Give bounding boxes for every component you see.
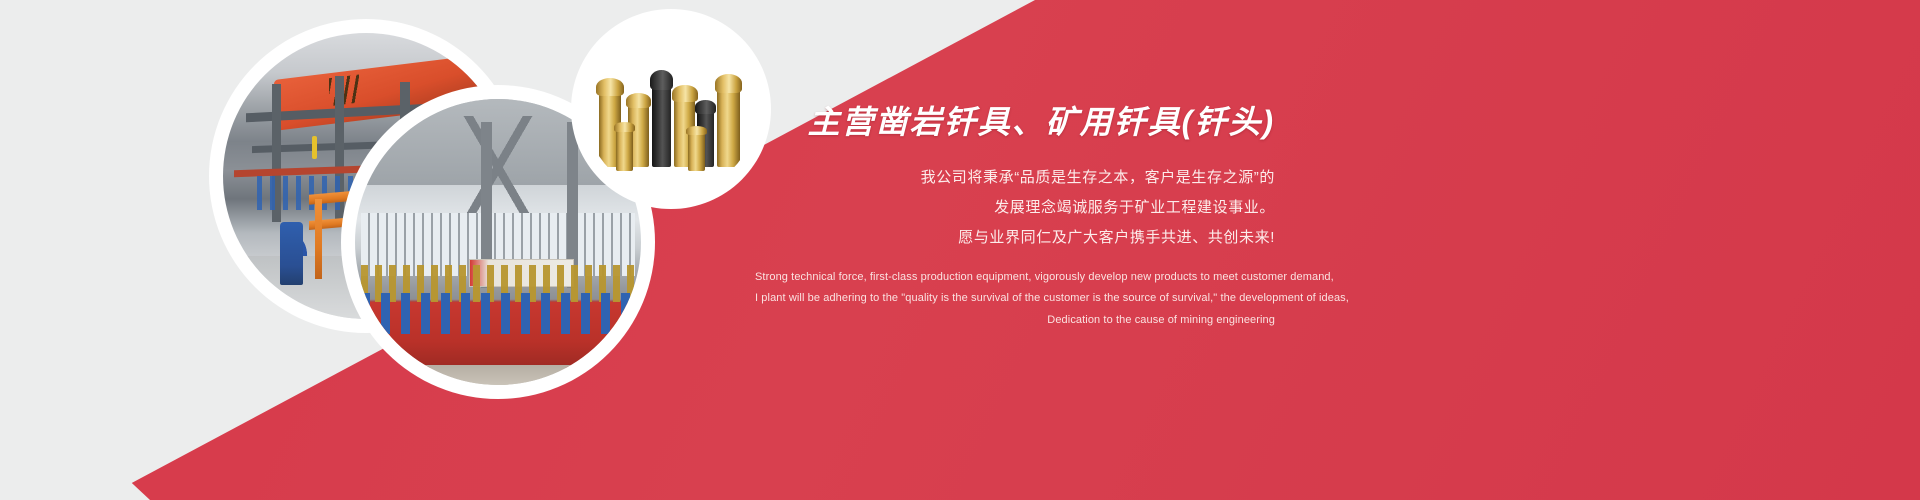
chinese-line-2: 发展理念竭诚服务于矿业工程建设事业。 [755, 193, 1275, 223]
english-line-3: Dedication to the cause of mining engine… [755, 310, 1275, 331]
english-line-1: Strong technical force, first-class prod… [755, 267, 1275, 288]
english-line-2: I plant will be adhering to the "quality… [755, 288, 1275, 309]
banner-headline: 主营凿岩钎具、矿用钎具(钎头) [755, 104, 1275, 141]
chinese-line-1: 我公司将秉承“品质是生存之本，客户是生存之源”的 [755, 163, 1275, 193]
english-description: Strong technical force, first-class prod… [755, 267, 1275, 331]
chinese-line-3: 愿与业界同仁及广大客户携手共进、共创未来! [755, 223, 1275, 253]
promo-banner: 主营凿岩钎具、矿用钎具(钎头) 我公司将秉承“品质是生存之本，客户是生存之源”的… [0, 0, 1920, 500]
chinese-description: 我公司将秉承“品质是生存之本，客户是生存之源”的 发展理念竭诚服务于矿业工程建设… [755, 163, 1275, 253]
photo-drill-bits [578, 16, 764, 202]
drill-bits-image [585, 23, 757, 195]
banner-text-block: 主营凿岩钎具、矿用钎具(钎头) 我公司将秉承“品质是生存之本，客户是生存之源”的… [755, 104, 1275, 331]
